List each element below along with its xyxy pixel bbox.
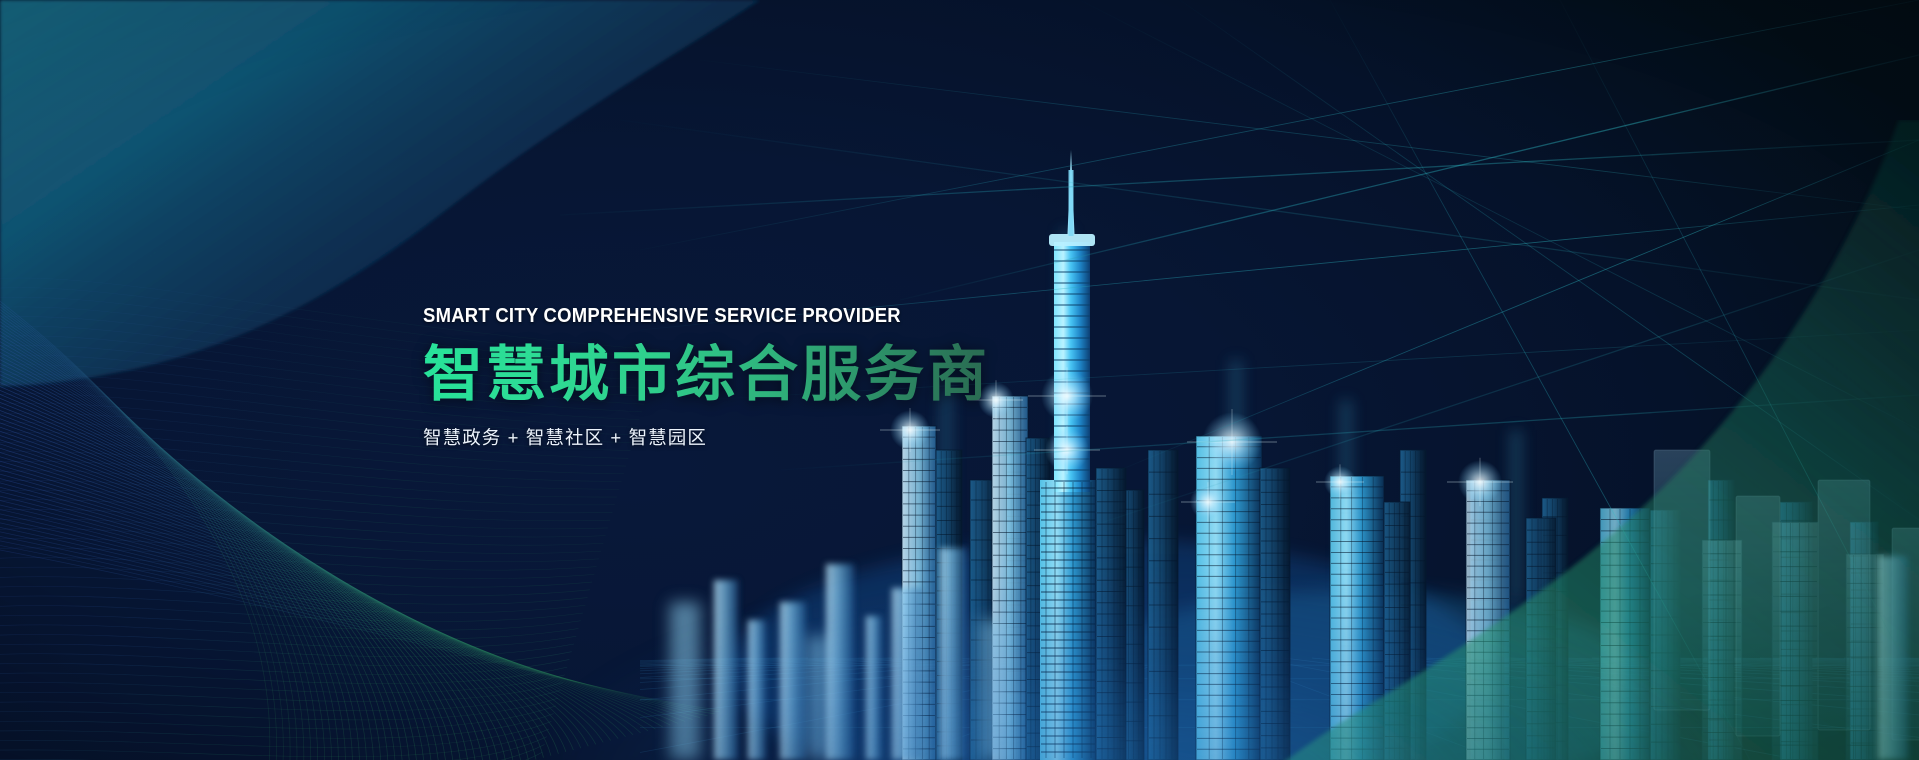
- hero-headline-chinese: 智慧城市综合服务商: [423, 343, 1043, 407]
- hero-banner: SMART CITY COMPREHENSIVE SERVICE PROVIDE…: [0, 0, 1919, 760]
- floor-glow: [560, 490, 1919, 760]
- hero-copy-block: SMART CITY COMPREHENSIVE SERVICE PROVIDE…: [423, 306, 1043, 450]
- hero-subline-chinese: 智慧政务 + 智慧社区 + 智慧园区: [423, 424, 1043, 450]
- hero-eyebrow-english: SMART CITY COMPREHENSIVE SERVICE PROVIDE…: [423, 306, 981, 327]
